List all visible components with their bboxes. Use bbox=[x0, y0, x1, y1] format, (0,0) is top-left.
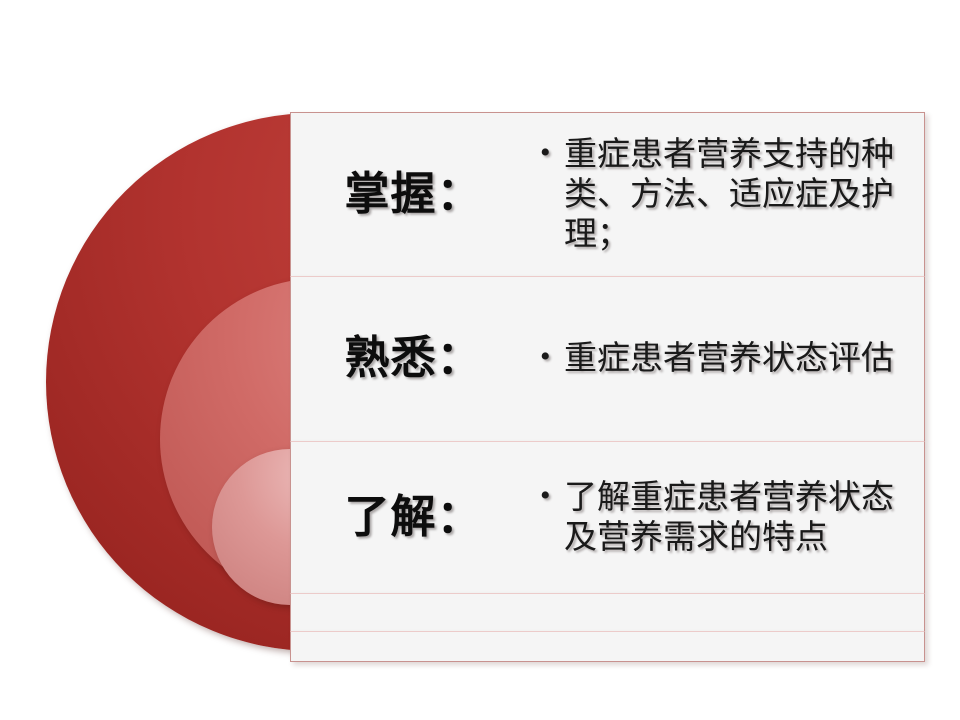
objective-row-empty-2[interactable] bbox=[290, 631, 925, 662]
bullet-list: 重症患者营养状态评估 bbox=[536, 339, 924, 379]
concentric-circles-graphic bbox=[0, 0, 300, 720]
objective-row-empty-1[interactable] bbox=[290, 593, 925, 631]
objective-row-master[interactable]: 掌握： 重症患者营养支持的种类、方法、适应症及护理； bbox=[290, 112, 925, 276]
slide-canvas: 教学目标 掌握： 重症患者营养支持的种类、方法、适应症及护理； 熟悉： 重症患者… bbox=[0, 0, 960, 720]
bullet-list: 重症患者营养支持的种类、方法、适应症及护理； bbox=[536, 135, 924, 255]
list-item: 了解重症患者营养状态及营养需求的特点 bbox=[536, 478, 914, 558]
objective-body-familiar: 重症患者营养状态评估 bbox=[536, 339, 924, 379]
objective-body-master: 重症患者营养支持的种类、方法、适应症及护理； bbox=[536, 135, 924, 255]
bullet-list: 了解重症患者营养状态及营养需求的特点 bbox=[536, 478, 924, 558]
objective-label-understand: 了解： bbox=[291, 494, 536, 541]
objective-body-understand: 了解重症患者营养状态及营养需求的特点 bbox=[536, 478, 924, 558]
objective-label-familiar: 熟悉： bbox=[291, 335, 536, 382]
list-item: 重症患者营养支持的种类、方法、适应症及护理； bbox=[536, 135, 914, 255]
objectives-panel: 掌握： 重症患者营养支持的种类、方法、适应症及护理； 熟悉： 重症患者营养状态评… bbox=[290, 112, 925, 662]
objective-row-familiar[interactable]: 熟悉： 重症患者营养状态评估 bbox=[290, 276, 925, 441]
objective-label-master: 掌握： bbox=[291, 171, 536, 218]
objective-row-understand[interactable]: 了解： 了解重症患者营养状态及营养需求的特点 bbox=[290, 441, 925, 593]
list-item: 重症患者营养状态评估 bbox=[536, 339, 914, 379]
